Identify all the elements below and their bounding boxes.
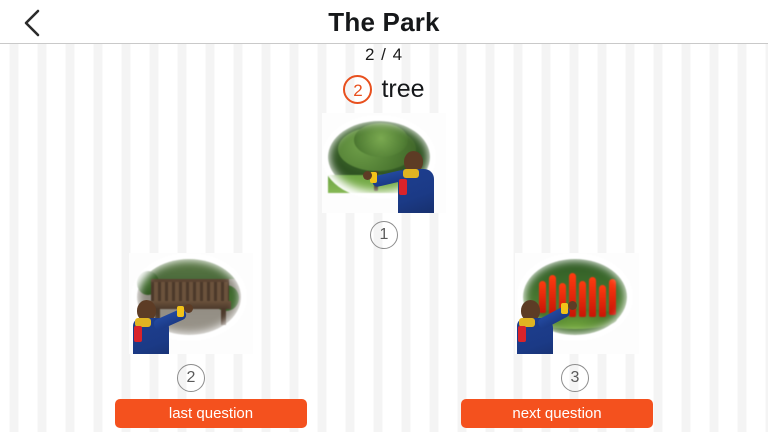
page-title: The Park — [0, 0, 768, 44]
child-hand — [363, 171, 372, 180]
child-hand — [184, 304, 193, 313]
photo-bench — [129, 253, 253, 354]
next-question-button[interactable]: next question — [461, 399, 653, 428]
child-scarf — [403, 169, 419, 178]
child-stripe — [399, 179, 407, 195]
flower-spike — [609, 279, 616, 315]
photo-flowers — [515, 253, 639, 354]
photo-tree — [322, 113, 446, 213]
child-hand — [568, 301, 577, 310]
bench-leg-right — [221, 309, 226, 325]
quiz-app: The Park 2 / 4 2 tree 1 — [0, 0, 768, 432]
photo-card-main[interactable] — [322, 113, 446, 213]
child-cuff — [177, 306, 184, 317]
app-header: The Park — [0, 0, 768, 44]
photo-number-2[interactable]: 2 — [177, 364, 205, 392]
pointing-child — [380, 139, 446, 213]
question-number-badge: 2 — [343, 75, 372, 104]
question-word: tree — [381, 75, 424, 104]
last-question-button[interactable]: last question — [115, 399, 307, 428]
flower-spike — [589, 277, 596, 317]
pointing-child — [131, 292, 197, 354]
photo-card-left[interactable] — [129, 253, 253, 354]
photo-number-1[interactable]: 1 — [370, 221, 398, 249]
photo-card-right[interactable] — [515, 253, 639, 354]
child-stripe — [518, 326, 526, 342]
child-cuff — [561, 303, 568, 314]
child-stripe — [134, 326, 142, 342]
question-prompt: 2 tree — [0, 72, 768, 106]
photo-number-3[interactable]: 3 — [561, 364, 589, 392]
progress-counter: 2 / 4 — [0, 45, 768, 65]
shrub-right — [213, 285, 239, 311]
pointing-child — [515, 292, 581, 354]
flower-spike — [599, 285, 606, 317]
